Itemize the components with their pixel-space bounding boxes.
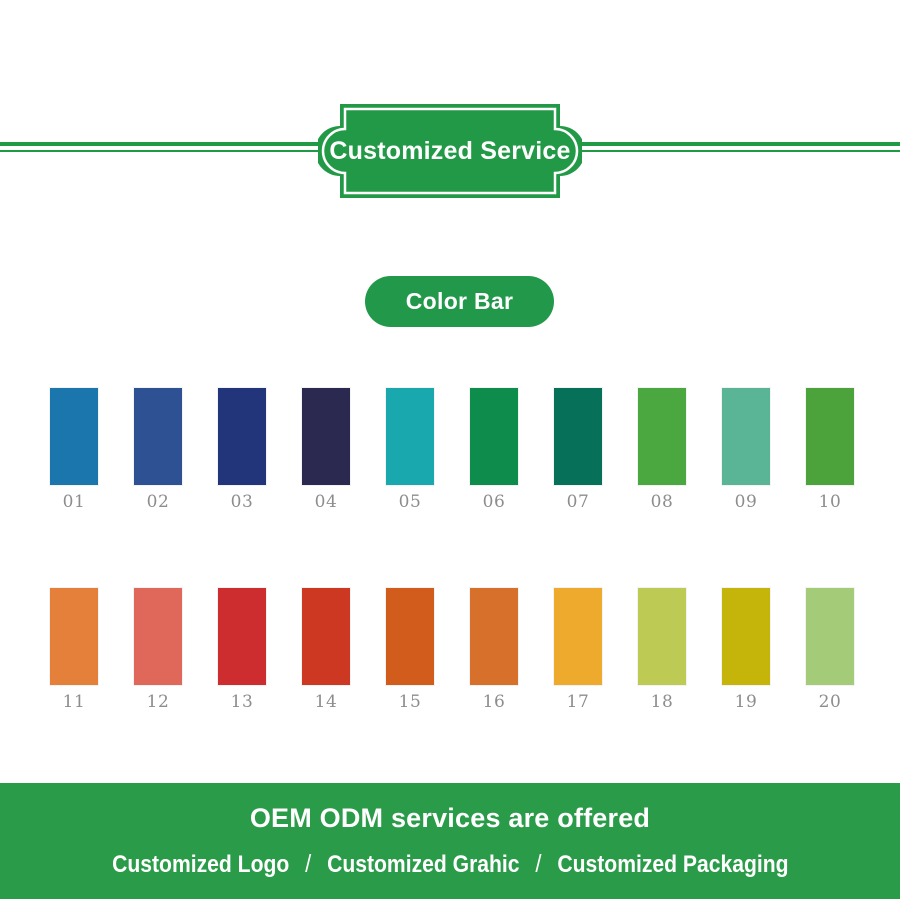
swatch-chip[interactable] xyxy=(50,388,98,485)
color-swatch-02[interactable]: 02 xyxy=(134,388,182,511)
swatch-code-label: 10 xyxy=(819,494,842,511)
swatch-code-label: 13 xyxy=(231,694,254,711)
swatch-code-label: 12 xyxy=(147,694,170,711)
color-swatch-19[interactable]: 19 xyxy=(722,588,770,711)
color-swatch-18[interactable]: 18 xyxy=(638,588,686,711)
swatch-chip[interactable] xyxy=(218,388,266,485)
swatch-chip[interactable] xyxy=(134,388,182,485)
footer-services-list: Customized Logo/Customized Grahic/Custom… xyxy=(110,850,790,879)
swatch-chip[interactable] xyxy=(302,388,350,485)
color-swatch-15[interactable]: 15 xyxy=(386,588,434,711)
swatch-chip[interactable] xyxy=(470,388,518,485)
swatch-code-label: 14 xyxy=(315,694,338,711)
swatch-code-label: 06 xyxy=(483,494,506,511)
swatch-chip[interactable] xyxy=(470,588,518,685)
header-banner-section: Customized Service xyxy=(0,0,900,230)
swatch-chip[interactable] xyxy=(218,588,266,685)
customized-service-banner: Customized Service xyxy=(318,104,582,198)
color-swatch-04[interactable]: 04 xyxy=(302,388,350,511)
palette-row-2: 11121314151617181920 xyxy=(50,588,854,711)
color-swatch-05[interactable]: 05 xyxy=(386,388,434,511)
palette-row-1: 01020304050607080910 xyxy=(50,388,854,511)
swatch-chip[interactable] xyxy=(554,388,602,485)
swatch-code-label: 02 xyxy=(147,494,170,511)
swatch-chip[interactable] xyxy=(50,588,98,685)
swatch-chip[interactable] xyxy=(386,588,434,685)
swatch-chip[interactable] xyxy=(302,588,350,685)
color-swatch-07[interactable]: 07 xyxy=(554,388,602,511)
swatch-code-label: 15 xyxy=(399,694,422,711)
color-swatch-01[interactable]: 01 xyxy=(50,388,98,511)
swatch-code-label: 20 xyxy=(819,694,842,711)
swatch-chip[interactable] xyxy=(806,588,854,685)
swatch-chip[interactable] xyxy=(134,588,182,685)
footer-separator: / xyxy=(521,850,555,879)
swatch-chip[interactable] xyxy=(806,388,854,485)
footer-service-item: Customized Logo xyxy=(110,851,291,879)
color-swatch-09[interactable]: 09 xyxy=(722,388,770,511)
color-swatch-13[interactable]: 13 xyxy=(218,588,266,711)
color-swatch-11[interactable]: 11 xyxy=(50,588,98,711)
footer-banner: OEM ODM services are offered Customized … xyxy=(0,783,900,899)
swatch-code-label: 17 xyxy=(567,694,590,711)
color-bar-label: Color Bar xyxy=(406,288,514,315)
swatch-code-label: 01 xyxy=(63,494,86,511)
color-swatch-12[interactable]: 12 xyxy=(134,588,182,711)
color-swatch-03[interactable]: 03 xyxy=(218,388,266,511)
swatch-code-label: 07 xyxy=(567,494,590,511)
swatch-code-label: 19 xyxy=(735,694,758,711)
banner-title: Customized Service xyxy=(318,104,582,198)
swatch-chip[interactable] xyxy=(638,388,686,485)
footer-separator: / xyxy=(291,850,325,879)
swatch-chip[interactable] xyxy=(722,588,770,685)
swatch-code-label: 09 xyxy=(735,494,758,511)
color-bar-pill: Color Bar xyxy=(365,276,554,327)
color-swatch-17[interactable]: 17 xyxy=(554,588,602,711)
swatch-code-label: 04 xyxy=(315,494,338,511)
color-swatch-10[interactable]: 10 xyxy=(806,388,854,511)
swatch-code-label: 18 xyxy=(651,694,674,711)
color-swatch-16[interactable]: 16 xyxy=(470,588,518,711)
footer-headline: OEM ODM services are offered xyxy=(250,803,650,834)
swatch-code-label: 05 xyxy=(399,494,422,511)
footer-service-item: Customized Grahic xyxy=(325,851,521,879)
color-swatch-06[interactable]: 06 xyxy=(470,388,518,511)
swatch-chip[interactable] xyxy=(722,388,770,485)
swatch-code-label: 16 xyxy=(483,694,506,711)
color-swatch-08[interactable]: 08 xyxy=(638,388,686,511)
swatch-chip[interactable] xyxy=(386,388,434,485)
swatch-chip[interactable] xyxy=(554,588,602,685)
color-swatch-20[interactable]: 20 xyxy=(806,588,854,711)
color-swatch-14[interactable]: 14 xyxy=(302,588,350,711)
swatch-code-label: 11 xyxy=(63,694,86,711)
swatch-code-label: 03 xyxy=(231,494,254,511)
footer-service-item: Customized Packaging xyxy=(555,851,790,879)
swatch-code-label: 08 xyxy=(651,494,674,511)
swatch-chip[interactable] xyxy=(638,588,686,685)
